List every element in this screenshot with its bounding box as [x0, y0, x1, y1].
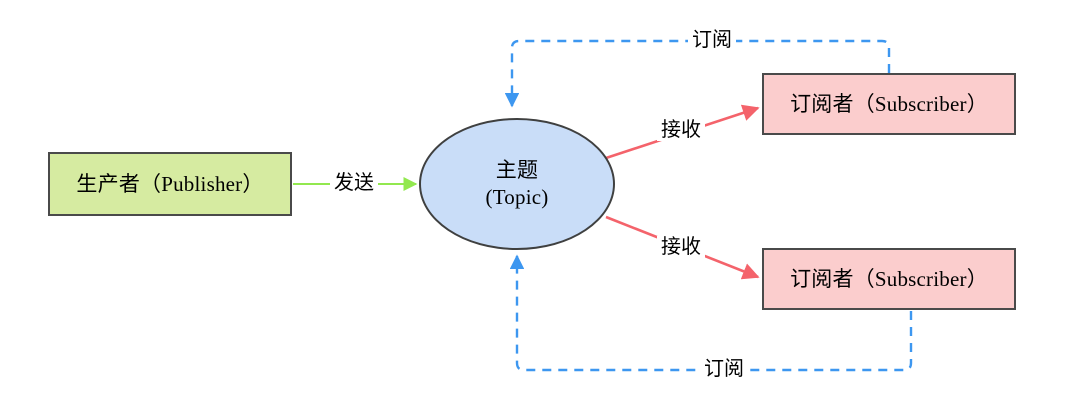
node-topic-label-line1: 主题	[496, 158, 538, 182]
node-topic-label-line2: (Topic)	[486, 185, 549, 209]
node-topic[interactable]: 主题 (Topic)	[419, 118, 615, 250]
node-subscriber-2[interactable]: 订阅者（Subscriber）	[762, 248, 1016, 310]
node-subscriber-1[interactable]: 订阅者（Subscriber）	[762, 73, 1016, 135]
node-publisher-label: 生产者（Publisher）	[76, 172, 263, 197]
node-subscriber-1-label: 订阅者（Subscriber）	[790, 92, 988, 117]
edge-label-receive-2: 接收	[657, 236, 705, 258]
edge-label-send: 发送	[330, 172, 378, 194]
node-subscriber-2-label: 订阅者（Subscriber）	[790, 267, 988, 292]
diagram-canvas: 生产者（Publisher） 主题 (Topic) 订阅者（Subscriber…	[0, 0, 1080, 405]
edge-label-subscribe-1: 订阅	[688, 29, 736, 51]
edge-label-receive-1: 接收	[657, 119, 705, 141]
node-publisher[interactable]: 生产者（Publisher）	[48, 152, 292, 216]
edge-label-subscribe-2: 订阅	[700, 358, 748, 380]
node-topic-label: 主题 (Topic)	[486, 157, 549, 211]
